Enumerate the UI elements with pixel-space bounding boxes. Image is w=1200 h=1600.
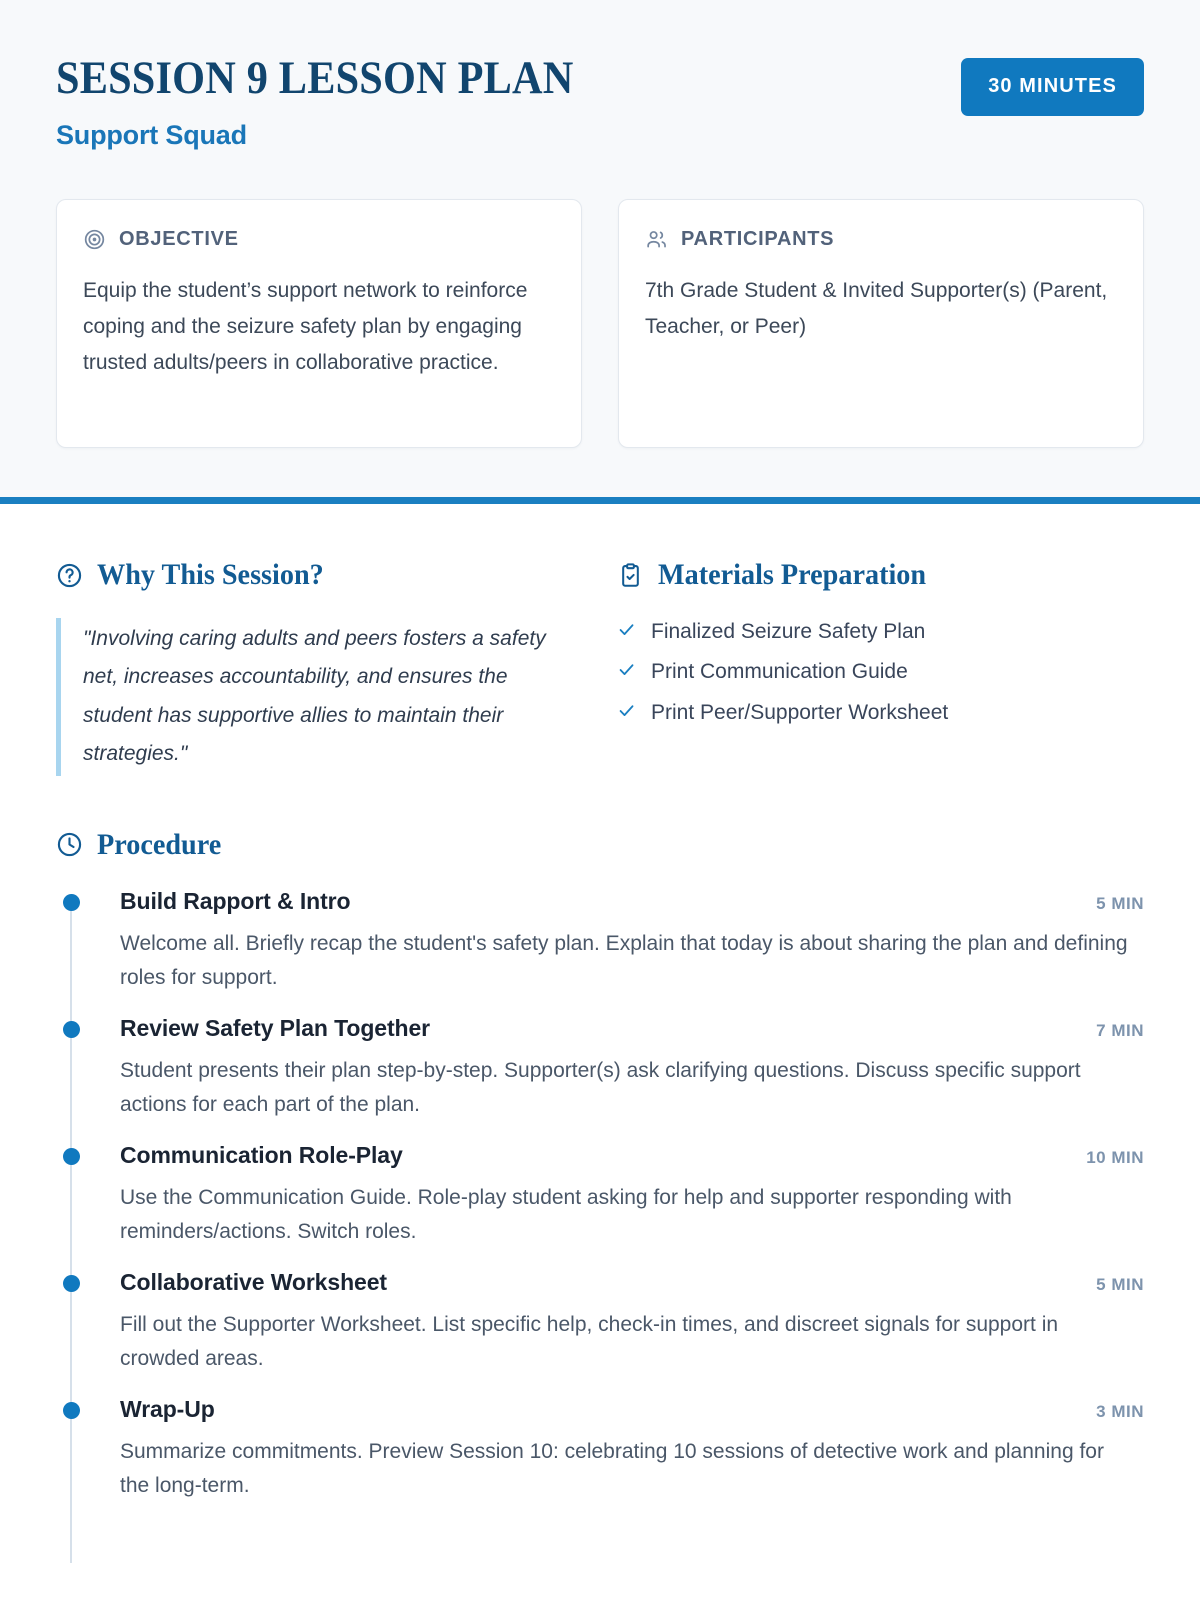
timeline-step-title: Build Rapport & Intro (120, 888, 350, 915)
page-header: SESSION 9 LESSON PLAN Support Squad 30 M… (0, 0, 1200, 497)
procedure-section: Procedure Build Rapport & Intro 5 MIN We… (56, 776, 1144, 1523)
timeline-step-header: Review Safety Plan Together 7 MIN (120, 1015, 1144, 1042)
timeline-step-description: Use the Communication Guide. Role-play s… (120, 1181, 1144, 1249)
objective-card-header: OBJECTIVE (83, 228, 555, 251)
why-session-title: Why This Session? (97, 558, 324, 592)
participants-card-label: PARTICIPANTS (681, 228, 834, 251)
timeline-step: Wrap-Up 3 MIN Summarize commitments. Pre… (56, 1396, 1144, 1523)
why-session-quote: "Involving caring adults and peers foste… (56, 618, 571, 776)
timeline-step: Review Safety Plan Together 7 MIN Studen… (56, 1015, 1144, 1142)
check-icon (617, 701, 636, 720)
why-session-section: Why This Session? "Involving caring adul… (56, 558, 571, 776)
timeline-step-title: Communication Role-Play (120, 1142, 403, 1169)
timeline-step: Collaborative Worksheet 5 MIN Fill out t… (56, 1269, 1144, 1396)
participants-card: PARTICIPANTS 7th Grade Student & Invited… (618, 199, 1144, 448)
header-top-row: SESSION 9 LESSON PLAN Support Squad 30 M… (56, 52, 1144, 151)
timeline-step-title: Wrap-Up (120, 1396, 215, 1423)
procedure-header: Procedure (56, 828, 1144, 862)
page-title: SESSION 9 LESSON PLAN (56, 54, 573, 104)
materials-list: Finalized Seizure Safety Plan Print Comm… (617, 618, 1144, 726)
timeline-dot-icon (63, 1148, 80, 1165)
info-cards-row: OBJECTIVE Equip the student’s support ne… (56, 199, 1144, 448)
timeline-step-header: Wrap-Up 3 MIN (120, 1396, 1144, 1423)
participants-card-text: 7th Grade Student & Invited Supporter(s)… (645, 273, 1117, 345)
page-subtitle: Support Squad (56, 120, 631, 151)
why-session-header: Why This Session? (56, 558, 571, 592)
procedure-title: Procedure (97, 828, 221, 862)
list-item: Print Communication Guide (617, 658, 1144, 685)
objective-card-text: Equip the student’s support network to r… (83, 273, 555, 381)
timeline-step-header: Collaborative Worksheet 5 MIN (120, 1269, 1144, 1296)
users-icon (645, 228, 668, 251)
clock-icon (56, 831, 83, 858)
timeline-step-description: Student presents their plan step-by-step… (120, 1054, 1144, 1122)
timeline-step-description: Fill out the Supporter Worksheet. List s… (120, 1308, 1144, 1376)
timeline-step-duration: 5 MIN (1096, 1275, 1144, 1295)
timeline-dot-icon (63, 1275, 80, 1292)
section-divider (0, 497, 1200, 504)
material-label: Print Communication Guide (651, 658, 908, 685)
timeline-step-duration: 10 MIN (1086, 1148, 1144, 1168)
materials-header: Materials Preparation (617, 558, 1144, 592)
why-materials-row: Why This Session? "Involving caring adul… (56, 504, 1144, 776)
material-label: Finalized Seizure Safety Plan (651, 618, 925, 645)
timeline-step-title: Collaborative Worksheet (120, 1269, 387, 1296)
timeline-step-header: Build Rapport & Intro 5 MIN (120, 888, 1144, 915)
timeline-step-duration: 3 MIN (1096, 1402, 1144, 1422)
materials-section: Materials Preparation Finalized Seizure … (617, 558, 1144, 776)
participants-card-header: PARTICIPANTS (645, 228, 1117, 251)
objective-card: OBJECTIVE Equip the student’s support ne… (56, 199, 582, 448)
check-icon (617, 660, 636, 679)
lesson-plan-page: SESSION 9 LESSON PLAN Support Squad 30 M… (0, 0, 1200, 1600)
timeline-dot-icon (63, 1402, 80, 1419)
check-icon (617, 620, 636, 639)
duration-badge: 30 MINUTES (961, 58, 1144, 116)
clipboard-check-icon (617, 562, 644, 589)
timeline-step-title: Review Safety Plan Together (120, 1015, 430, 1042)
timeline-dot-icon (63, 1021, 80, 1038)
list-item: Print Peer/Supporter Worksheet (617, 699, 1144, 726)
timeline-step-header: Communication Role-Play 10 MIN (120, 1142, 1144, 1169)
list-item: Finalized Seizure Safety Plan (617, 618, 1144, 645)
target-icon (83, 228, 106, 251)
page-body: Why This Session? "Involving caring adul… (0, 504, 1200, 1523)
timeline-step-duration: 5 MIN (1096, 894, 1144, 914)
timeline-step: Build Rapport & Intro 5 MIN Welcome all.… (56, 888, 1144, 1015)
material-label: Print Peer/Supporter Worksheet (651, 699, 948, 726)
materials-title: Materials Preparation (658, 558, 926, 592)
timeline-dot-icon (63, 894, 80, 911)
timeline-step: Communication Role-Play 10 MIN Use the C… (56, 1142, 1144, 1269)
timeline-step-description: Welcome all. Briefly recap the student's… (120, 927, 1144, 995)
timeline-step-description: Summarize commitments. Preview Session 1… (120, 1435, 1144, 1503)
timeline-step-duration: 7 MIN (1096, 1021, 1144, 1041)
procedure-timeline: Build Rapport & Intro 5 MIN Welcome all.… (56, 888, 1144, 1523)
question-circle-icon (56, 562, 83, 589)
title-block: SESSION 9 LESSON PLAN Support Squad (56, 52, 631, 151)
objective-card-label: OBJECTIVE (119, 228, 239, 251)
